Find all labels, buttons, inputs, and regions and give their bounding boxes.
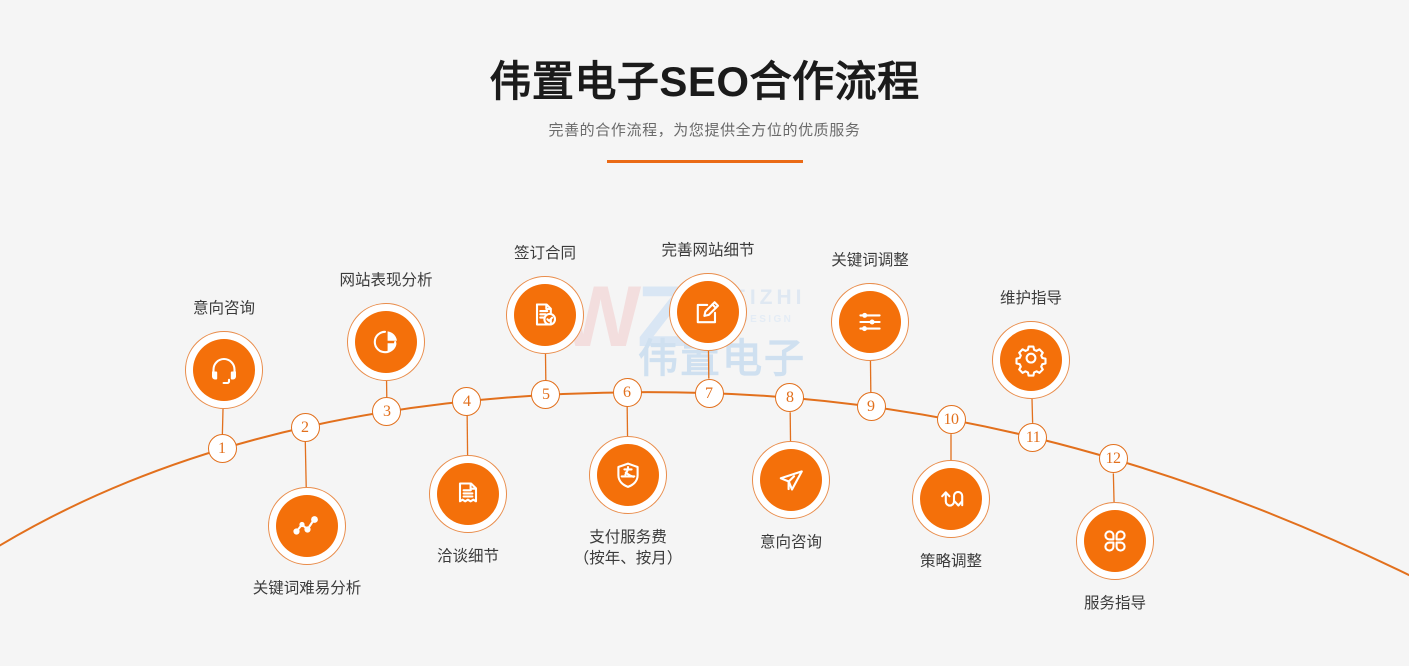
- page-title: 伟置电子SEO合作流程: [0, 58, 1409, 105]
- send-cursor-icon: [760, 449, 822, 511]
- flow-step-node-9[interactable]: [831, 283, 909, 361]
- flow-stem-line: [222, 409, 223, 434]
- flow-stem-line: [1113, 473, 1114, 502]
- receipt-icon: [437, 463, 499, 525]
- flow-step-node-11[interactable]: [992, 321, 1070, 399]
- four-leaf-grid-icon: [1084, 510, 1146, 572]
- headset-icon: [193, 339, 255, 401]
- step-number-badge-4[interactable]: 4: [452, 387, 481, 416]
- flow-step-node-3[interactable]: [347, 303, 425, 381]
- step-label-12: 服务指导: [1015, 593, 1215, 614]
- flow-step-node-1[interactable]: [185, 331, 263, 409]
- step-number-badge-9[interactable]: 9: [857, 392, 886, 421]
- alipay-shield-icon: [597, 444, 659, 506]
- flow-step-node-6[interactable]: [589, 436, 667, 514]
- pie-chart-icon: [355, 311, 417, 373]
- page-subtitle: 完善的合作流程，为您提供全方位的优质服务: [0, 119, 1409, 140]
- flow-step-node-10[interactable]: [912, 460, 990, 538]
- step-label-1: 意向咨询: [124, 298, 324, 319]
- step-label-10: 策略调整: [851, 551, 1051, 572]
- flow-step-node-2[interactable]: [268, 487, 346, 565]
- flow-stem-line: [305, 442, 306, 487]
- title-underline-divider: [607, 160, 803, 163]
- step-label-8: 意向咨询: [691, 532, 891, 553]
- step-label-3: 网站表现分析: [286, 270, 486, 291]
- seo-process-infographic: 伟置电子SEO合作流程 完善的合作流程，为您提供全方位的优质服务 WZ WEIZ…: [0, 0, 1409, 666]
- step-label-9: 关键词调整: [770, 250, 970, 271]
- flow-step-node-7[interactable]: [669, 273, 747, 351]
- step-label-11: 维护指导: [931, 288, 1131, 309]
- step-number-badge-2[interactable]: 2: [291, 413, 320, 442]
- sliders-icon: [839, 291, 901, 353]
- gear-icon: [1000, 329, 1062, 391]
- flow-stem-line: [1032, 399, 1033, 423]
- network-chart-icon: [276, 495, 338, 557]
- edit-pencil-icon: [677, 281, 739, 343]
- contract-check-icon: [514, 284, 576, 346]
- swap-arrows-icon: [920, 468, 982, 530]
- step-number-badge-7[interactable]: 7: [695, 379, 724, 408]
- flow-step-node-12[interactable]: [1076, 502, 1154, 580]
- header: 伟置电子SEO合作流程 完善的合作流程，为您提供全方位的优质服务: [0, 0, 1409, 163]
- step-number-badge-1[interactable]: 1: [208, 434, 237, 463]
- step-number-badge-10[interactable]: 10: [937, 405, 966, 434]
- flow-step-node-8[interactable]: [752, 441, 830, 519]
- step-label-2: 关键词难易分析: [207, 578, 407, 599]
- step-number-badge-12[interactable]: 12: [1099, 444, 1128, 473]
- flow-step-node-5[interactable]: [506, 276, 584, 354]
- step-number-badge-6[interactable]: 6: [613, 378, 642, 407]
- flow-step-node-4[interactable]: [429, 455, 507, 533]
